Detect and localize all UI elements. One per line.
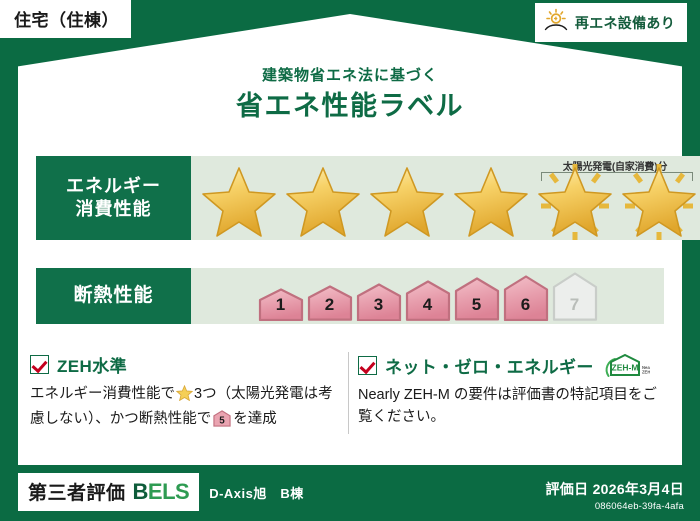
zeh-m-logo-icon: ZEH-M Nearly ZEH-M xyxy=(604,352,650,378)
inline-house-icon: 5 xyxy=(213,415,231,431)
info-divider xyxy=(348,352,349,434)
renewable-equipment-badge: 再エネ設備あり xyxy=(535,3,687,42)
insulation-label: 断熱性能 xyxy=(73,284,153,308)
star-icon-solar xyxy=(617,162,700,238)
energy-stars-area: 太陽光発電(自家消費)分 xyxy=(191,156,700,240)
zeh-level-header: ZEH水準 xyxy=(30,352,340,377)
star-icon xyxy=(365,162,449,238)
zeh-body-part1: エネルギー消費性能で xyxy=(30,386,175,402)
insulation-level-badge: 6 xyxy=(503,274,549,321)
label-title: 省エネ性能ラベル xyxy=(0,84,700,123)
star-icon xyxy=(449,162,533,238)
star-icon xyxy=(197,162,281,238)
building-name: D-Axis旭 B棟 xyxy=(209,483,304,502)
evaluation-date: 評価日 2026年3月4日 xyxy=(545,479,684,499)
zeh-level-info: ZEH水準 エネルギー消費性能で3つ（太陽光発電は考慮しない）、かつ断熱性能で5… xyxy=(30,352,340,435)
energy-performance-label-box: エネルギー 消費性能 xyxy=(36,156,191,240)
insulation-level-number: 7 xyxy=(552,295,598,315)
insulation-level-badge: 7 xyxy=(552,271,598,321)
insulation-level-number: 4 xyxy=(405,295,451,315)
insulation-level-badge: 2 xyxy=(307,284,353,321)
building-type-tag: 住宅（住棟） xyxy=(0,0,131,38)
net-zero-body: Nearly ZEH-M の要件は評価書の特記項目をご覧ください。 xyxy=(358,385,670,429)
star-icon-solar xyxy=(533,162,617,238)
star-rating xyxy=(197,162,700,238)
check-icon xyxy=(30,355,49,374)
svg-text:ZEH-M: ZEH-M xyxy=(611,363,638,373)
evaluation-id: 086064eb-39fa-4afa xyxy=(545,501,684,512)
net-zero-header: ネット・ゼロ・エネルギー ZEH-M Nearly ZEH-M xyxy=(358,352,670,378)
insulation-level-number: 6 xyxy=(503,295,549,315)
renewable-badge-label: 再エネ設備あり xyxy=(575,13,675,33)
zeh-body-part3: を達成 xyxy=(233,411,277,427)
bels-letter-b: B xyxy=(133,479,148,504)
bels-jp-label: 第三者評価 xyxy=(28,478,126,505)
solar-sun-icon xyxy=(543,8,569,37)
insulation-level-number: 3 xyxy=(356,295,402,315)
label-subtitle: 建築物省エネ法に基づく xyxy=(0,64,700,85)
insulation-level-number: 5 xyxy=(454,295,500,315)
svg-text:5: 5 xyxy=(220,415,226,426)
inline-star-icon xyxy=(176,389,193,405)
star-icon xyxy=(281,162,365,238)
energy-performance-row: エネルギー 消費性能 太陽光発電(自家消費)分 xyxy=(36,156,664,240)
footer-right: 評価日 2026年3月4日 086064eb-39fa-4afa xyxy=(545,479,684,512)
bels-en-label: BELS xyxy=(133,479,190,505)
bels-badge: 第三者評価 BELS xyxy=(18,473,199,511)
insulation-levels-area: 1 2 3 xyxy=(191,268,664,324)
footer-left: 第三者評価 BELS D-Axis旭 B棟 xyxy=(18,473,304,511)
zeh-level-body: エネルギー消費性能で3つ（太陽光発電は考慮しない）、かつ断熱性能で5を達成 xyxy=(30,384,340,435)
bels-letters-els: ELS xyxy=(148,479,189,504)
insulation-level-badges: 1 2 3 xyxy=(258,271,598,321)
insulation-level-badge: 4 xyxy=(405,279,451,321)
energy-performance-label: 住宅（住棟） 再エネ設備あり 建築物省エネ法に基づく 省エネ性能ラベル xyxy=(0,0,700,521)
net-zero-energy-info: ネット・ゼロ・エネルギー ZEH-M Nearly ZEH-M Nearly Z… xyxy=(358,352,670,429)
zeh-level-title: ZEH水準 xyxy=(57,352,127,377)
net-zero-title: ネット・ゼロ・エネルギー xyxy=(385,353,594,378)
insulation-level-badge: 3 xyxy=(356,282,402,321)
insulation-level-number: 2 xyxy=(307,295,353,315)
insulation-performance-label-box: 断熱性能 xyxy=(36,268,191,324)
check-icon xyxy=(358,356,377,375)
insulation-performance-row: 断熱性能 1 xyxy=(36,268,664,324)
insulation-level-badge: 1 xyxy=(258,287,304,321)
svg-text:ZEH-M: ZEH-M xyxy=(642,370,650,375)
building-type-label: 住宅（住棟） xyxy=(14,11,119,30)
energy-label-line1: エネルギー xyxy=(66,175,161,198)
insulation-level-badge: 5 xyxy=(454,276,500,320)
energy-label-line2: 消費性能 xyxy=(76,198,152,221)
insulation-level-number: 1 xyxy=(258,295,304,315)
